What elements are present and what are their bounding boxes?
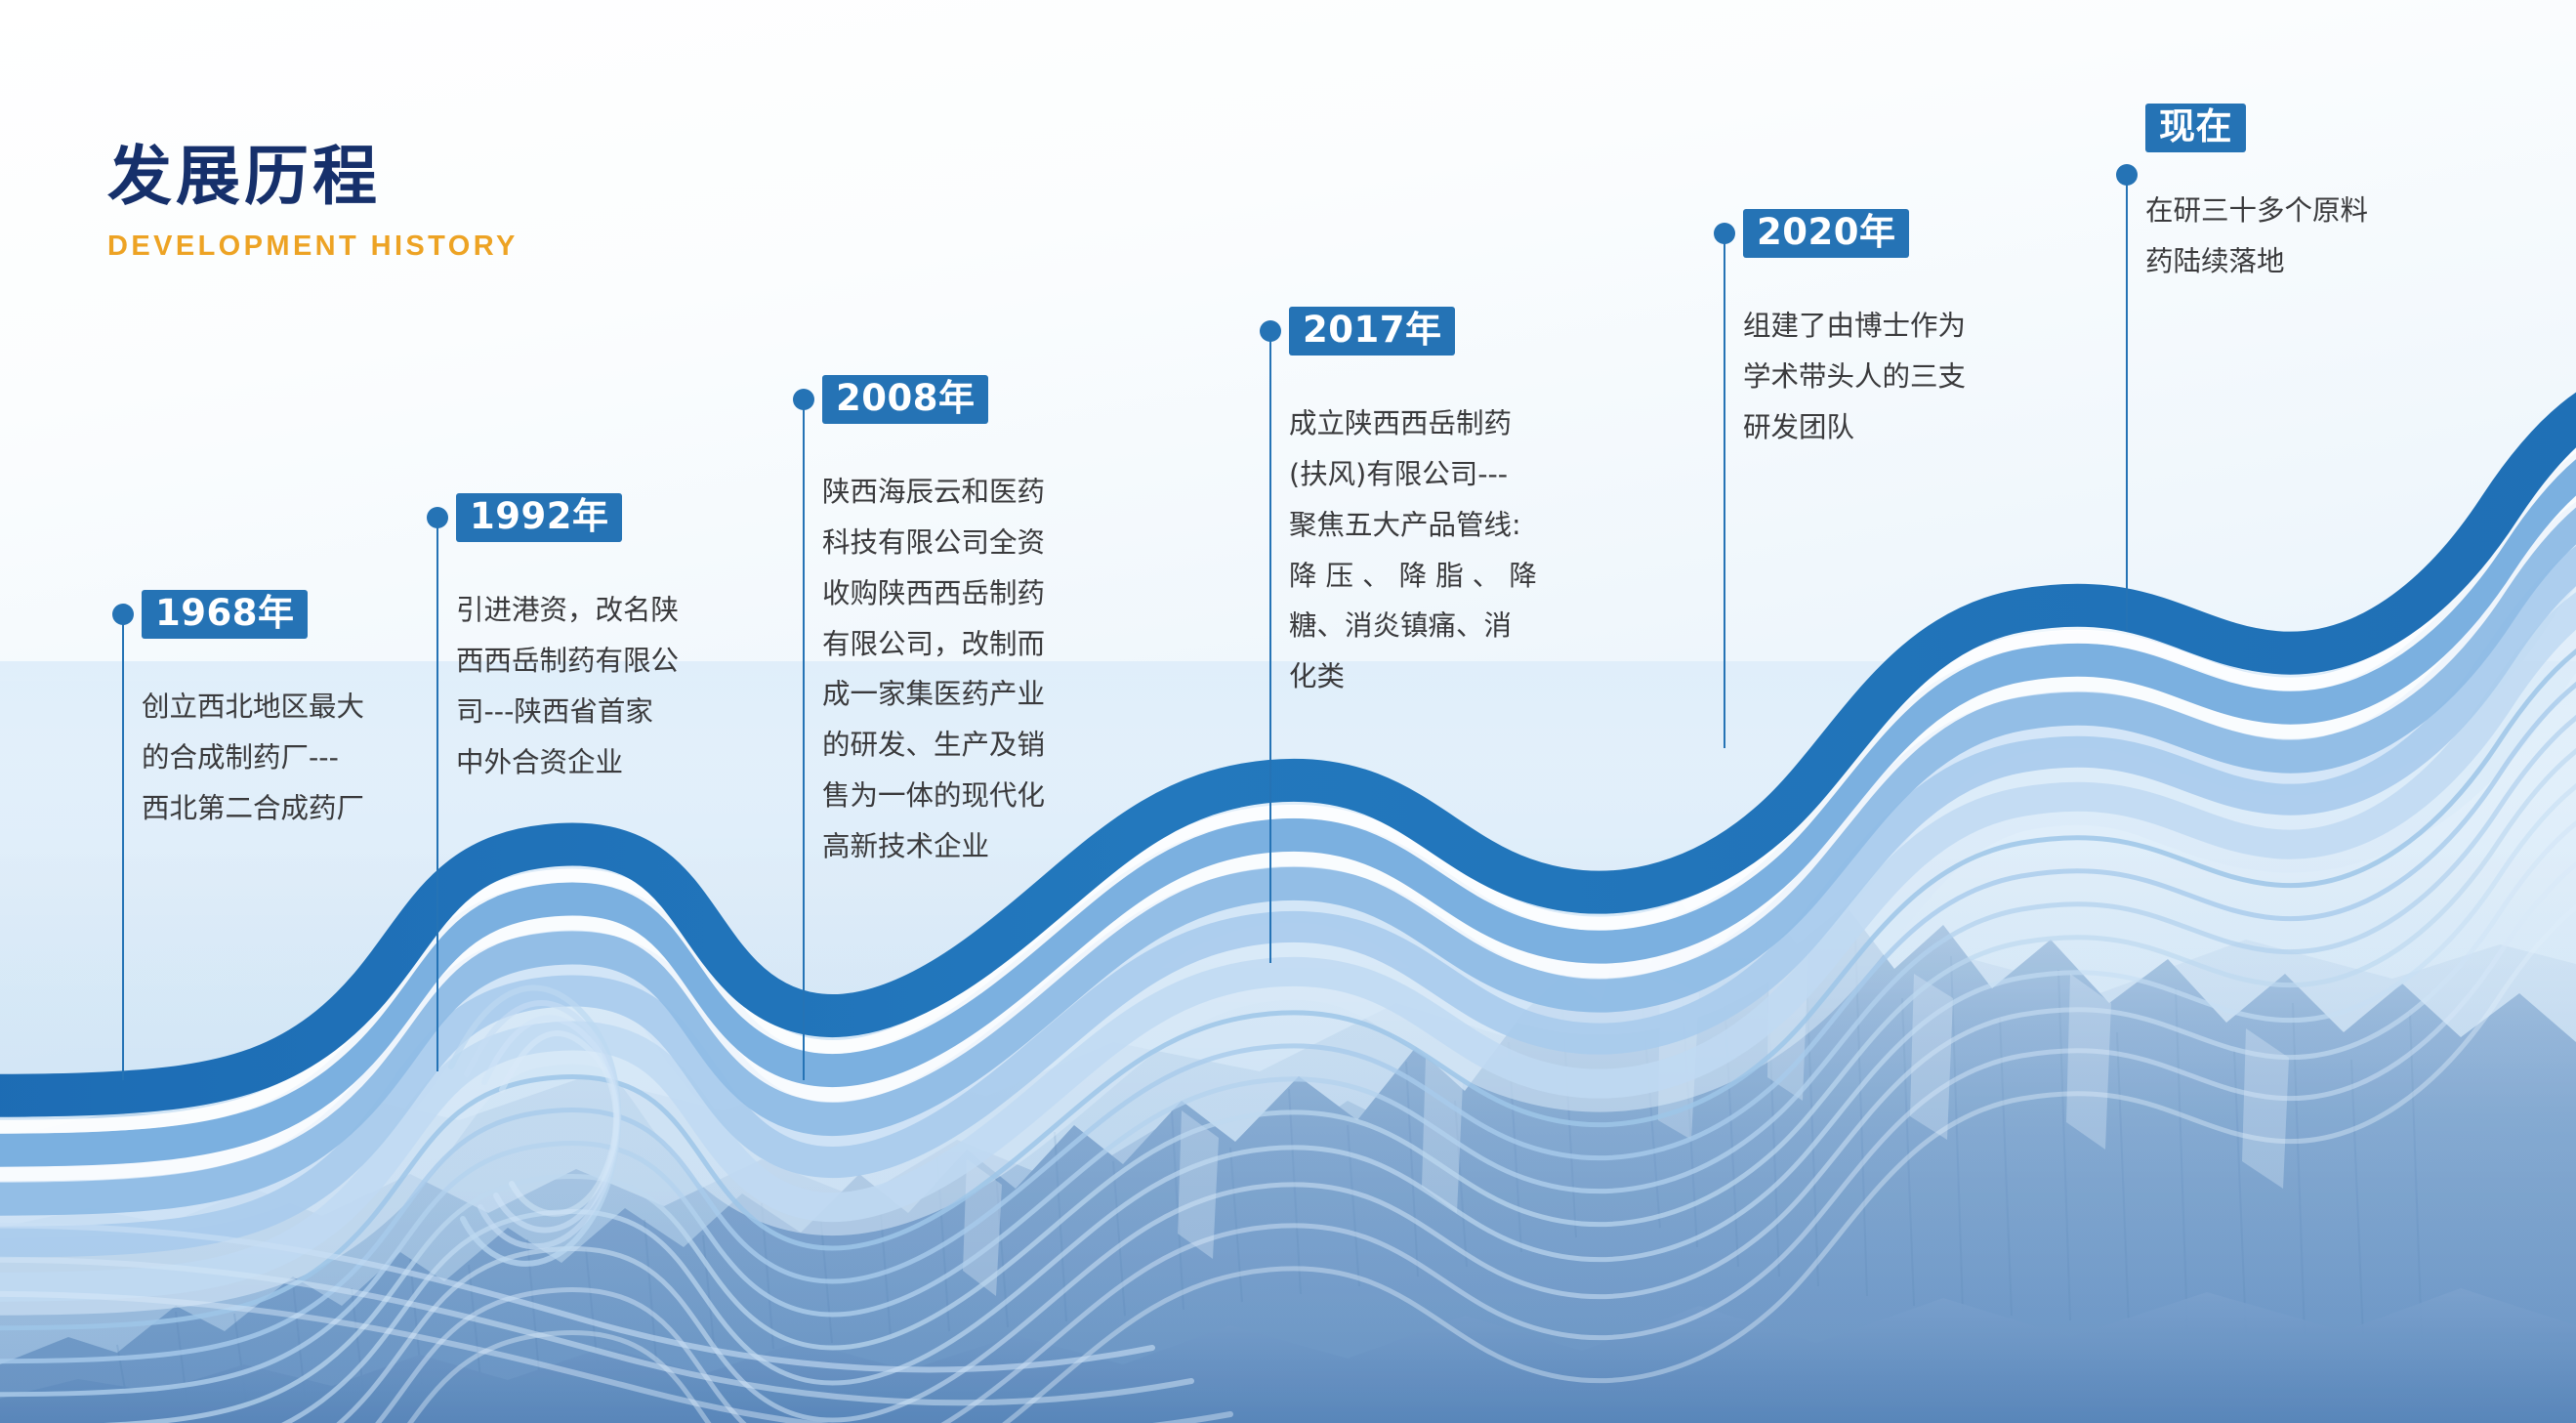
page-title: 发展历程 [107,145,519,209]
infographic-canvas: 发展历程 DEVELOPMENT HISTORY 1968年 创立西北地区最大 … [0,0,2576,1423]
timeline-connector-now [2126,182,2128,631]
page-subtitle: DEVELOPMENT HISTORY [107,230,519,263]
timeline-year-badge-1992: 1992年 [456,493,622,542]
timeline-year-badge-1968: 1968年 [142,590,308,639]
timeline-description-2017: 成立陕西西岳制药 (扶风)有限公司--- 聚焦五大产品管线: 降 压 、 降 脂… [1289,398,1611,702]
timeline-year-badge-2008: 2008年 [822,375,988,424]
page-header: 发展历程 DEVELOPMENT HISTORY [107,145,519,263]
timeline-year-badge-now: 现在 [2145,104,2246,152]
timeline-description-1992: 引进港资，改名陕 西西岳制药有限公 司---陕西省首家 中外合资企业 [456,585,759,787]
timeline-description-now: 在研三十多个原料 药陆续落地 [2145,186,2468,287]
timeline-connector-1992 [436,524,438,1071]
timeline-description-1968: 创立西北地区最大 的合成制药厂--- 西北第二合成药厂 [142,682,444,834]
timeline-year-badge-2020: 2020年 [1743,209,1909,258]
timeline-description-2008: 陕西海辰云和医药 科技有限公司全资 收购陕西西岳制药 有限公司，改制而 成一家集… [822,467,1144,872]
timeline-connector-2020 [1724,240,1725,748]
timeline-connector-1968 [122,621,124,1080]
timeline-connector-2017 [1269,338,1271,963]
timeline-year-badge-2017: 2017年 [1289,307,1455,356]
timeline-connector-2008 [803,406,805,1080]
timeline-description-2020: 组建了由博士作为 学术带头人的三支 研发团队 [1743,301,2065,453]
